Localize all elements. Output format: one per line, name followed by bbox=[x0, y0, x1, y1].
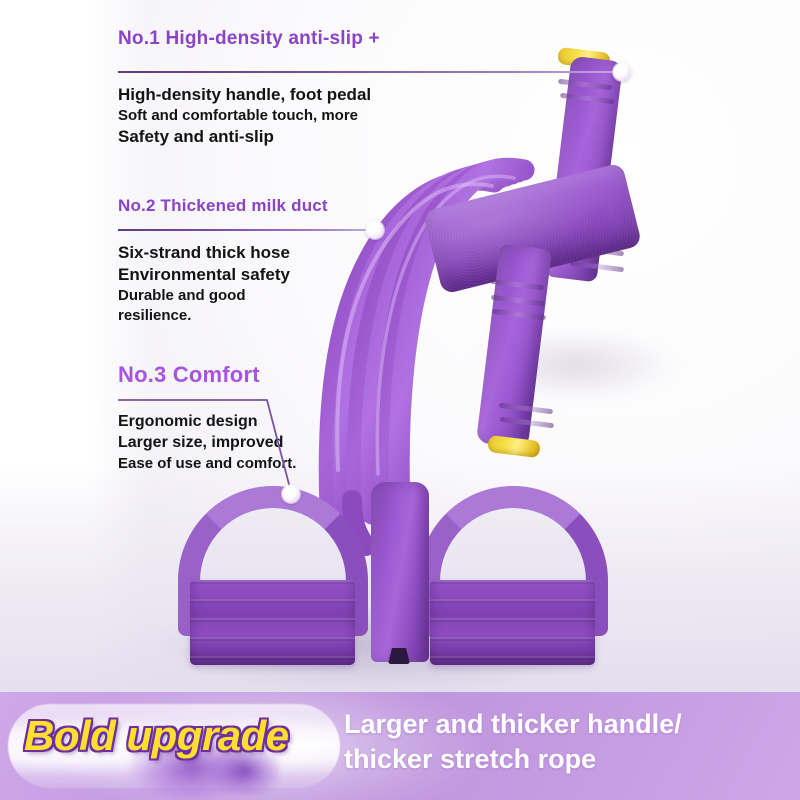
callout-no3-title: No.3 Comfort bbox=[118, 362, 260, 388]
pedal-center-connector bbox=[371, 482, 429, 662]
callout-no1-body: High-density handle, foot pedal Soft and… bbox=[118, 84, 371, 148]
callout-no1-leader-line bbox=[118, 71, 618, 73]
pedal-pad-right bbox=[430, 580, 595, 665]
callout-no2-line-1: Six-strand thick hose bbox=[118, 242, 290, 264]
pedal-pad-left bbox=[190, 580, 355, 665]
product-infographic: No.1 High-density anti-slip + High-densi… bbox=[0, 0, 800, 800]
callout-no2: No.2 Thickened milk duct Six-strand thic… bbox=[118, 196, 408, 331]
callout-no1-anchor-dot bbox=[613, 63, 631, 81]
bottom-banner: Bold upgrade Larger and thicker handle/ … bbox=[0, 692, 800, 800]
banner-headline-line-2: thicker stretch rope bbox=[344, 742, 794, 777]
callout-no2-body: Six-strand thick hose Environmental safe… bbox=[118, 242, 290, 325]
banner-headline-line-1: Larger and thicker handle/ bbox=[344, 707, 794, 742]
callout-no1-title: No.1 High-density anti-slip + bbox=[118, 28, 380, 50]
callout-no2-line-4: resilience. bbox=[118, 306, 290, 326]
callout-no2-line-3: Durable and good bbox=[118, 286, 290, 306]
callout-no2-leader-line bbox=[118, 229, 370, 231]
callout-no3-anchor-dot bbox=[282, 485, 300, 503]
banner-headline: Larger and thicker handle/ thicker stret… bbox=[344, 707, 794, 776]
callout-no1-line-1: High-density handle, foot pedal bbox=[118, 84, 371, 106]
callout-no1-line-2: Soft and comfortable touch, more bbox=[118, 106, 371, 126]
callout-no2-line-2: Environmental safety bbox=[118, 264, 290, 286]
bold-upgrade-badge: Bold upgrade bbox=[24, 712, 324, 760]
callout-no3-leader-line bbox=[110, 390, 310, 505]
callout-no2-title: No.2 Thickened milk duct bbox=[118, 196, 328, 216]
callout-no1-line-3: Safety and anti-slip bbox=[118, 126, 371, 148]
callout-no2-anchor-dot bbox=[366, 221, 384, 239]
callout-no1: No.1 High-density anti-slip + High-densi… bbox=[118, 28, 678, 158]
